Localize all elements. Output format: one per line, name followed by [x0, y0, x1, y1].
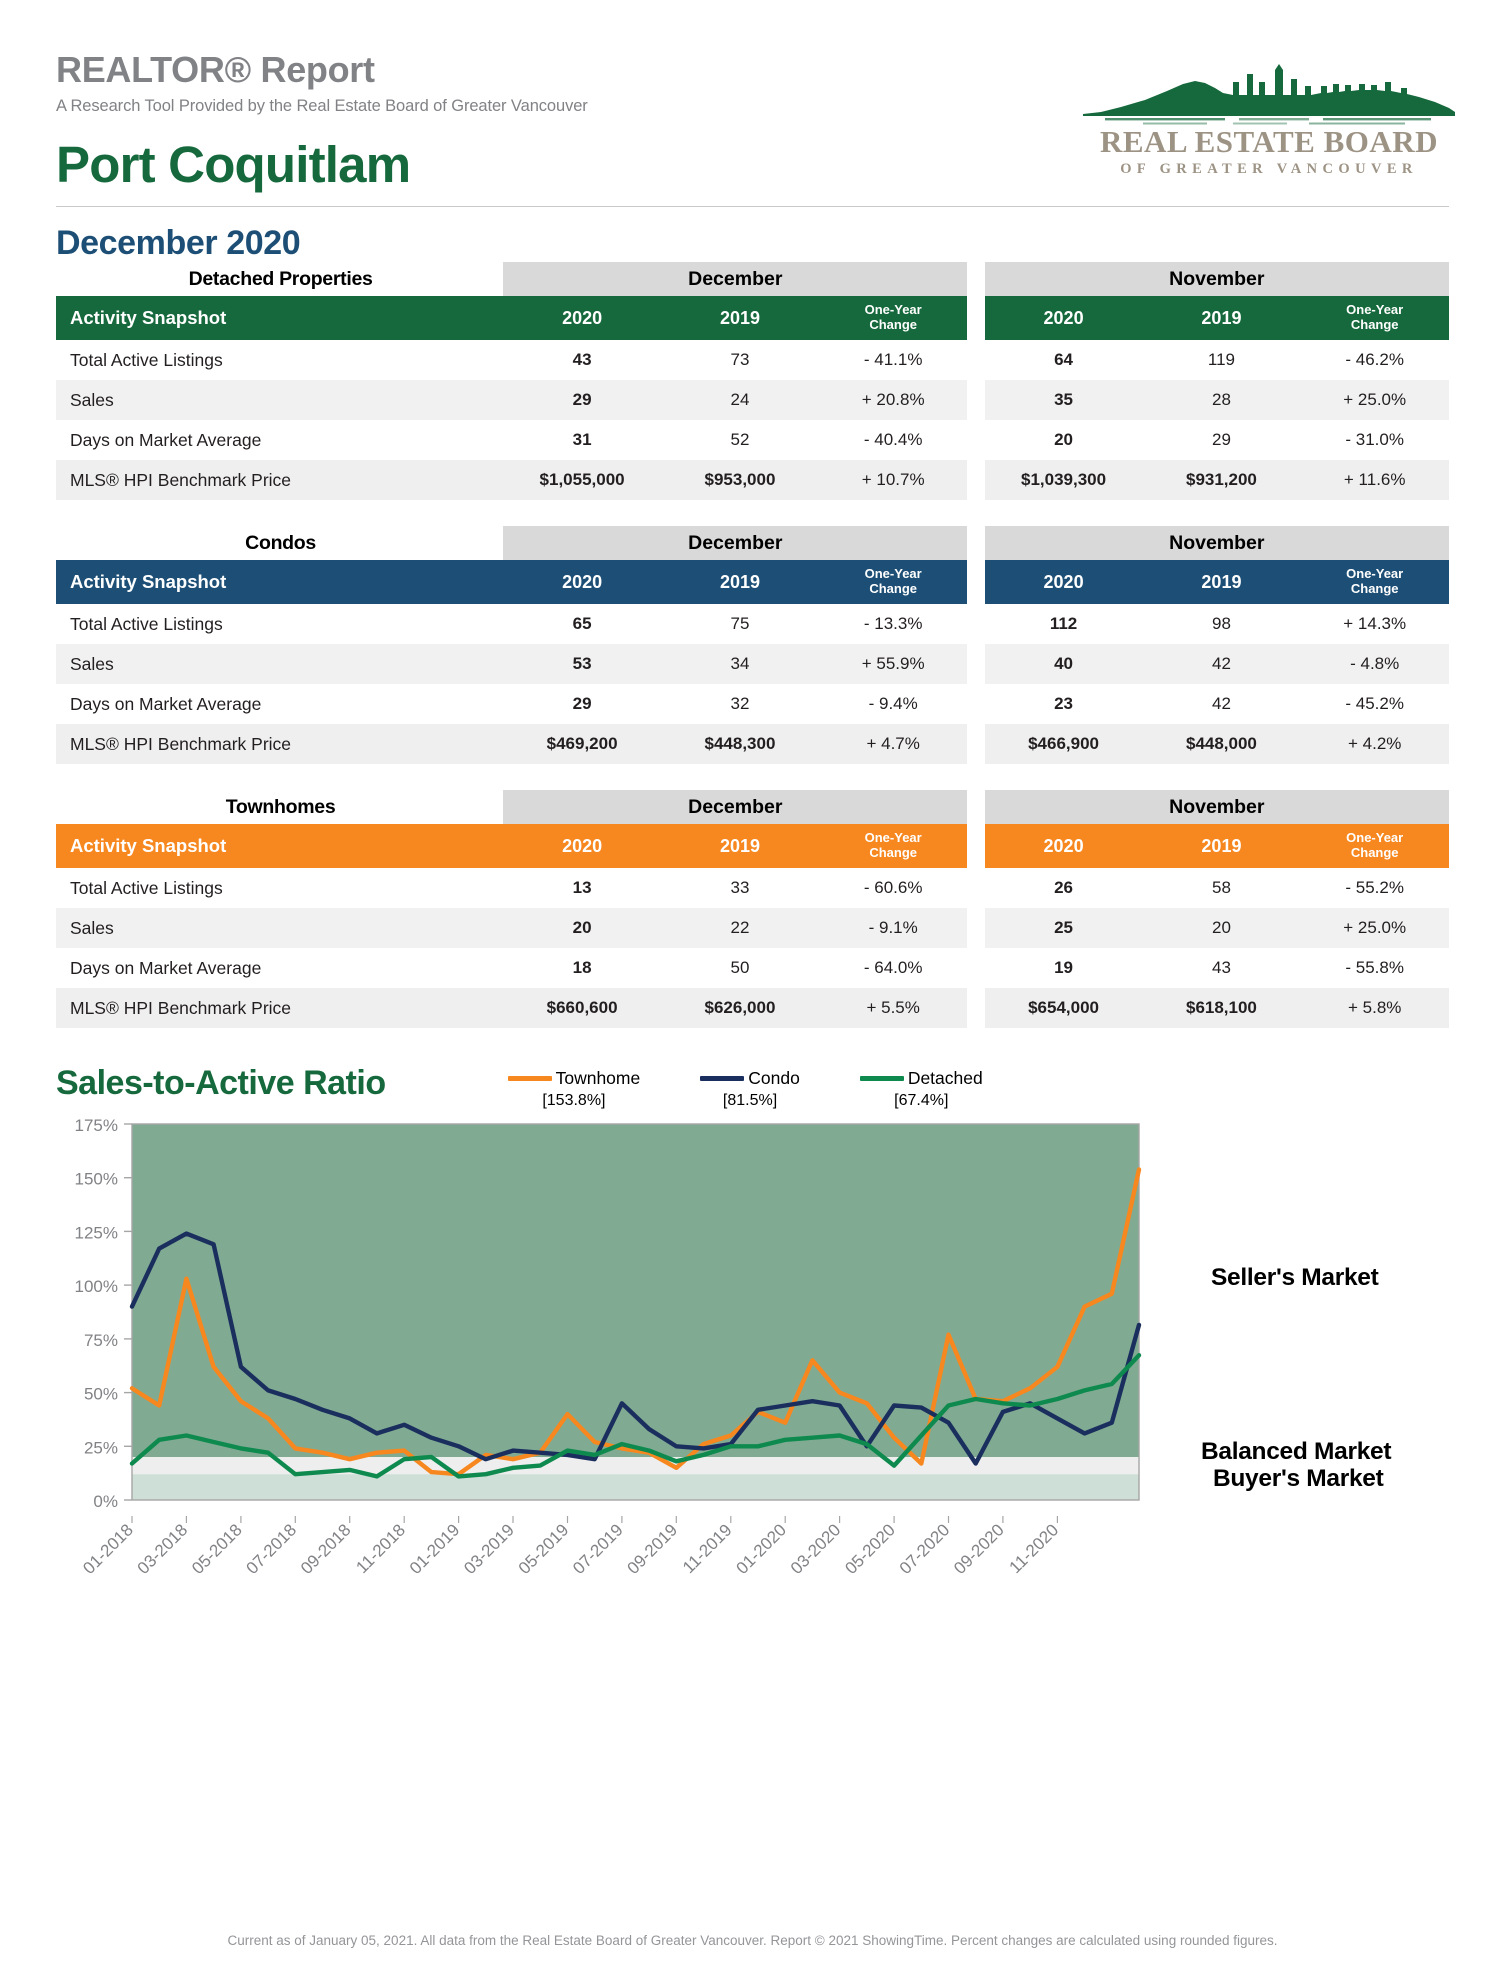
- cell-nov-2019: $618,100: [1143, 988, 1301, 1028]
- svg-text:09-2018: 09-2018: [297, 1520, 355, 1578]
- chart-plot-area: 0%25%50%75%100%125%150%175% Seller's Mar…: [56, 1118, 1449, 1518]
- col-header-nov-change: One-YearChange: [1300, 296, 1449, 340]
- svg-text:01-2020: 01-2020: [732, 1520, 790, 1578]
- col-header-nov-2019: 2019: [1143, 824, 1301, 868]
- cell-nov-2019: 119: [1143, 340, 1301, 380]
- reb-logo: REAL ESTATE BOARD OF GREATER VANCOUVER: [1083, 60, 1455, 178]
- cell-dec-change: + 4.7%: [819, 724, 968, 764]
- cell-dec-2019: 32: [661, 684, 819, 724]
- cell-dec-2019: 75: [661, 604, 819, 644]
- cell-dec-2020: 31: [503, 420, 661, 460]
- legend-item-detached: Detached [67.4%]: [860, 1068, 983, 1110]
- col-header-dec-2019: 2019: [661, 824, 819, 868]
- cell-nov-2020: 25: [985, 908, 1143, 948]
- legend-swatch-detached: [860, 1076, 904, 1081]
- month-header-left: December: [503, 526, 967, 560]
- cell-nov-2019: 42: [1143, 644, 1301, 684]
- table-month-band: CondosDecemberNovember: [56, 526, 1449, 560]
- table-row: Total Active Listings6575- 13.3%11298+ 1…: [56, 604, 1449, 644]
- activity-table: Detached PropertiesDecemberNovemberActiv…: [56, 262, 1449, 500]
- logo-wordmark: REAL ESTATE BOARD: [1083, 126, 1455, 159]
- table-gap: [967, 420, 984, 460]
- col-header-dec-2019: 2019: [661, 296, 819, 340]
- table-row: MLS® HPI Benchmark Price$1,055,000$953,0…: [56, 460, 1449, 500]
- table-gap: [967, 380, 984, 420]
- row-label: Total Active Listings: [56, 340, 503, 380]
- chart-canvas: 0%25%50%75%100%125%150%175%: [56, 1118, 1449, 1518]
- table-category-title: Detached Properties: [56, 262, 503, 296]
- vancouver-skyline-icon: [1083, 60, 1455, 128]
- svg-text:0%: 0%: [93, 1492, 118, 1511]
- svg-text:25%: 25%: [84, 1438, 118, 1457]
- cell-dec-change: - 9.1%: [819, 908, 968, 948]
- svg-text:01-2019: 01-2019: [406, 1520, 464, 1578]
- realtor-report-page: REALTOR® Report A Research Tool Provided…: [0, 0, 1505, 1980]
- cell-dec-change: + 55.9%: [819, 644, 968, 684]
- table-header-row: Activity Snapshot20202019One-YearChange2…: [56, 824, 1449, 868]
- table-row: MLS® HPI Benchmark Price$660,600$626,000…: [56, 988, 1449, 1028]
- table-row: Days on Market Average1850- 64.0%1943- 5…: [56, 948, 1449, 988]
- cell-dec-change: + 20.8%: [819, 380, 968, 420]
- cell-nov-2019: 42: [1143, 684, 1301, 724]
- activity-tables: Detached PropertiesDecemberNovemberActiv…: [0, 262, 1505, 1028]
- col-header-dec-2020: 2020: [503, 824, 661, 868]
- cell-dec-2019: $626,000: [661, 988, 819, 1028]
- cell-nov-change: - 55.8%: [1300, 948, 1449, 988]
- cell-dec-2020: 53: [503, 644, 661, 684]
- cell-dec-2019: 52: [661, 420, 819, 460]
- cell-dec-2020: 43: [503, 340, 661, 380]
- table-gap: [967, 868, 984, 908]
- cell-nov-change: - 55.2%: [1300, 868, 1449, 908]
- legend-value-detached: [67.4%]: [860, 1092, 983, 1110]
- legend-item-condo: Condo [81.5%]: [700, 1068, 800, 1110]
- table-gap: [967, 948, 984, 988]
- svg-text:09-2019: 09-2019: [624, 1520, 682, 1578]
- table-row: Sales2924+ 20.8%3528+ 25.0%: [56, 380, 1449, 420]
- cell-nov-change: - 46.2%: [1300, 340, 1449, 380]
- svg-text:11-2019: 11-2019: [679, 1520, 736, 1577]
- svg-text:03-2020: 03-2020: [787, 1520, 845, 1578]
- table-month-band: Detached PropertiesDecemberNovember: [56, 262, 1449, 296]
- legend-value-condo: [81.5%]: [700, 1092, 800, 1110]
- table-gap: [967, 526, 984, 560]
- cell-dec-2019: $953,000: [661, 460, 819, 500]
- cell-dec-2019: 73: [661, 340, 819, 380]
- cell-nov-change: + 25.0%: [1300, 380, 1449, 420]
- svg-text:07-2018: 07-2018: [243, 1520, 301, 1578]
- cell-nov-2020: $654,000: [985, 988, 1143, 1028]
- svg-text:05-2019: 05-2019: [515, 1520, 573, 1578]
- table-row: MLS® HPI Benchmark Price$469,200$448,300…: [56, 724, 1449, 764]
- cell-dec-2019: 22: [661, 908, 819, 948]
- table-gap: [967, 824, 984, 868]
- cell-nov-2019: $448,000: [1143, 724, 1301, 764]
- legend-value-townhome: [153.8%]: [508, 1092, 641, 1110]
- cell-dec-change: - 60.6%: [819, 868, 968, 908]
- table-gap: [967, 560, 984, 604]
- table-gap: [967, 460, 984, 500]
- legend-item-townhome: Townhome [153.8%]: [508, 1068, 641, 1110]
- cell-dec-2019: 50: [661, 948, 819, 988]
- table-row: Total Active Listings1333- 60.6%2658- 55…: [56, 868, 1449, 908]
- row-label: MLS® HPI Benchmark Price: [56, 724, 503, 764]
- table-header-row: Activity Snapshot20202019One-YearChange2…: [56, 296, 1449, 340]
- cell-nov-change: - 4.8%: [1300, 644, 1449, 684]
- svg-text:07-2019: 07-2019: [569, 1520, 627, 1578]
- col-header-nov-2019: 2019: [1143, 296, 1301, 340]
- activity-snapshot-label: Activity Snapshot: [56, 296, 503, 340]
- col-header-nov-change: One-YearChange: [1300, 824, 1449, 868]
- cell-dec-change: + 10.7%: [819, 460, 968, 500]
- cell-nov-change: + 14.3%: [1300, 604, 1449, 644]
- month-header-right: November: [985, 262, 1449, 296]
- svg-text:03-2019: 03-2019: [460, 1520, 518, 1578]
- cell-nov-change: + 4.2%: [1300, 724, 1449, 764]
- table-gap: [967, 908, 984, 948]
- table-header-row: Activity Snapshot20202019One-YearChange2…: [56, 560, 1449, 604]
- table-gap: [967, 790, 984, 824]
- cell-nov-2020: 40: [985, 644, 1143, 684]
- svg-text:150%: 150%: [75, 1170, 118, 1189]
- cell-nov-2019: 58: [1143, 868, 1301, 908]
- row-label: MLS® HPI Benchmark Price: [56, 988, 503, 1028]
- cell-nov-2020: $1,039,300: [985, 460, 1143, 500]
- table-row: Total Active Listings4373- 41.1%64119- 4…: [56, 340, 1449, 380]
- activity-snapshot-label: Activity Snapshot: [56, 560, 503, 604]
- chart-legend: Townhome [153.8%] Condo [81.5%] Detached: [508, 1060, 983, 1110]
- table-row: Sales5334+ 55.9%4042- 4.8%: [56, 644, 1449, 684]
- col-header-dec-change: One-YearChange: [819, 296, 968, 340]
- cell-dec-2020: 18: [503, 948, 661, 988]
- cell-dec-2020: $660,600: [503, 988, 661, 1028]
- table-gap: [967, 604, 984, 644]
- sales-to-active-chart: Sales-to-Active Ratio Townhome [153.8%] …: [0, 1054, 1505, 1620]
- cell-dec-change: - 40.4%: [819, 420, 968, 460]
- col-header-dec-change: One-YearChange: [819, 824, 968, 868]
- cell-dec-2020: 29: [503, 684, 661, 724]
- cell-nov-2019: 20: [1143, 908, 1301, 948]
- cell-nov-change: + 11.6%: [1300, 460, 1449, 500]
- header-divider: [56, 206, 1449, 207]
- cell-dec-change: - 64.0%: [819, 948, 968, 988]
- cell-dec-2020: 13: [503, 868, 661, 908]
- svg-text:05-2018: 05-2018: [188, 1520, 246, 1578]
- table-block-t-town: TownhomesDecemberNovemberActivity Snapsh…: [56, 790, 1449, 1028]
- cell-nov-2020: 26: [985, 868, 1143, 908]
- cell-dec-change: - 13.3%: [819, 604, 968, 644]
- cell-nov-change: - 31.0%: [1300, 420, 1449, 460]
- table-gap: [967, 296, 984, 340]
- table-category-title: Condos: [56, 526, 503, 560]
- legend-label-townhome: Townhome: [556, 1068, 641, 1089]
- table-gap: [967, 262, 984, 296]
- cell-nov-2020: $466,900: [985, 724, 1143, 764]
- logo-subtext: OF GREATER VANCOUVER: [1083, 161, 1455, 178]
- table-block-t-detached: Detached PropertiesDecemberNovemberActiv…: [56, 262, 1449, 500]
- svg-text:175%: 175%: [75, 1118, 118, 1135]
- cell-dec-2020: 20: [503, 908, 661, 948]
- cell-dec-2019: 24: [661, 380, 819, 420]
- cell-nov-2019: 28: [1143, 380, 1301, 420]
- legend-label-condo: Condo: [748, 1068, 800, 1089]
- col-header-nov-2020: 2020: [985, 296, 1143, 340]
- cell-dec-2020: $1,055,000: [503, 460, 661, 500]
- cell-nov-2019: 29: [1143, 420, 1301, 460]
- svg-text:01-2018: 01-2018: [79, 1520, 137, 1578]
- cell-dec-2020: 65: [503, 604, 661, 644]
- row-label: MLS® HPI Benchmark Price: [56, 460, 503, 500]
- cell-dec-change: + 5.5%: [819, 988, 968, 1028]
- row-label: Days on Market Average: [56, 420, 503, 460]
- legend-swatch-condo: [700, 1076, 744, 1081]
- cell-dec-change: - 41.1%: [819, 340, 968, 380]
- cell-dec-2020: $469,200: [503, 724, 661, 764]
- col-header-nov-change: One-YearChange: [1300, 560, 1449, 604]
- cell-dec-change: - 9.4%: [819, 684, 968, 724]
- cell-dec-2019: $448,300: [661, 724, 819, 764]
- table-gap: [967, 724, 984, 764]
- svg-text:03-2018: 03-2018: [134, 1520, 192, 1578]
- chart-header: Sales-to-Active Ratio Townhome [153.8%] …: [56, 1060, 1449, 1118]
- table-block-t-condo: CondosDecemberNovemberActivity Snapshot2…: [56, 526, 1449, 764]
- cell-nov-change: + 5.8%: [1300, 988, 1449, 1028]
- chart-x-axis: 01-201803-201805-201807-201809-201811-20…: [56, 1516, 1449, 1620]
- svg-text:07-2020: 07-2020: [896, 1520, 954, 1578]
- cell-nov-2020: 64: [985, 340, 1143, 380]
- svg-text:11-2018: 11-2018: [352, 1520, 409, 1577]
- cell-nov-2020: 20: [985, 420, 1143, 460]
- month-header-left: December: [503, 790, 967, 824]
- legend-label-detached: Detached: [908, 1068, 983, 1089]
- row-label: Sales: [56, 644, 503, 684]
- cell-dec-2020: 29: [503, 380, 661, 420]
- table-row: Days on Market Average2932- 9.4%2342- 45…: [56, 684, 1449, 724]
- table-category-title: Townhomes: [56, 790, 503, 824]
- month-header-left: December: [503, 262, 967, 296]
- row-label: Days on Market Average: [56, 684, 503, 724]
- col-header-dec-change: One-YearChange: [819, 560, 968, 604]
- row-label: Total Active Listings: [56, 604, 503, 644]
- svg-text:75%: 75%: [84, 1331, 118, 1350]
- table-gap: [967, 684, 984, 724]
- col-header-dec-2020: 2020: [503, 560, 661, 604]
- legend-swatch-townhome: [508, 1076, 552, 1081]
- cell-nov-2019: $931,200: [1143, 460, 1301, 500]
- svg-text:50%: 50%: [84, 1385, 118, 1404]
- month-header-right: November: [985, 526, 1449, 560]
- table-row: Days on Market Average3152- 40.4%2029- 3…: [56, 420, 1449, 460]
- report-month: December 2020: [56, 224, 1449, 263]
- svg-text:11-2020: 11-2020: [1006, 1520, 1063, 1577]
- col-header-nov-2019: 2019: [1143, 560, 1301, 604]
- col-header-dec-2019: 2019: [661, 560, 819, 604]
- page-header: REALTOR® Report A Research Tool Provided…: [0, 0, 1505, 262]
- cell-nov-2020: 112: [985, 604, 1143, 644]
- cell-nov-2020: 35: [985, 380, 1143, 420]
- row-label: Total Active Listings: [56, 868, 503, 908]
- cell-nov-change: + 25.0%: [1300, 908, 1449, 948]
- cell-nov-change: - 45.2%: [1300, 684, 1449, 724]
- row-label: Days on Market Average: [56, 948, 503, 988]
- svg-text:05-2020: 05-2020: [841, 1520, 899, 1578]
- cell-nov-2019: 98: [1143, 604, 1301, 644]
- cell-nov-2020: 23: [985, 684, 1143, 724]
- month-header-right: November: [985, 790, 1449, 824]
- activity-table: CondosDecemberNovemberActivity Snapshot2…: [56, 526, 1449, 764]
- svg-text:100%: 100%: [75, 1277, 118, 1296]
- row-label: Sales: [56, 908, 503, 948]
- activity-table: TownhomesDecemberNovemberActivity Snapsh…: [56, 790, 1449, 1028]
- cell-nov-2020: 19: [985, 948, 1143, 988]
- table-month-band: TownhomesDecemberNovember: [56, 790, 1449, 824]
- activity-snapshot-label: Activity Snapshot: [56, 824, 503, 868]
- col-header-nov-2020: 2020: [985, 824, 1143, 868]
- cell-dec-2019: 34: [661, 644, 819, 684]
- svg-text:125%: 125%: [75, 1223, 118, 1242]
- col-header-nov-2020: 2020: [985, 560, 1143, 604]
- row-label: Sales: [56, 380, 503, 420]
- chart-title: Sales-to-Active Ratio: [56, 1060, 386, 1103]
- col-header-dec-2020: 2020: [503, 296, 661, 340]
- table-gap: [967, 340, 984, 380]
- table-gap: [967, 988, 984, 1028]
- cell-dec-2019: 33: [661, 868, 819, 908]
- footer-note: Current as of January 05, 2021. All data…: [0, 1933, 1505, 1948]
- table-gap: [967, 644, 984, 684]
- table-row: Sales2022- 9.1%2520+ 25.0%: [56, 908, 1449, 948]
- svg-text:09-2020: 09-2020: [950, 1520, 1008, 1578]
- cell-nov-2019: 43: [1143, 948, 1301, 988]
